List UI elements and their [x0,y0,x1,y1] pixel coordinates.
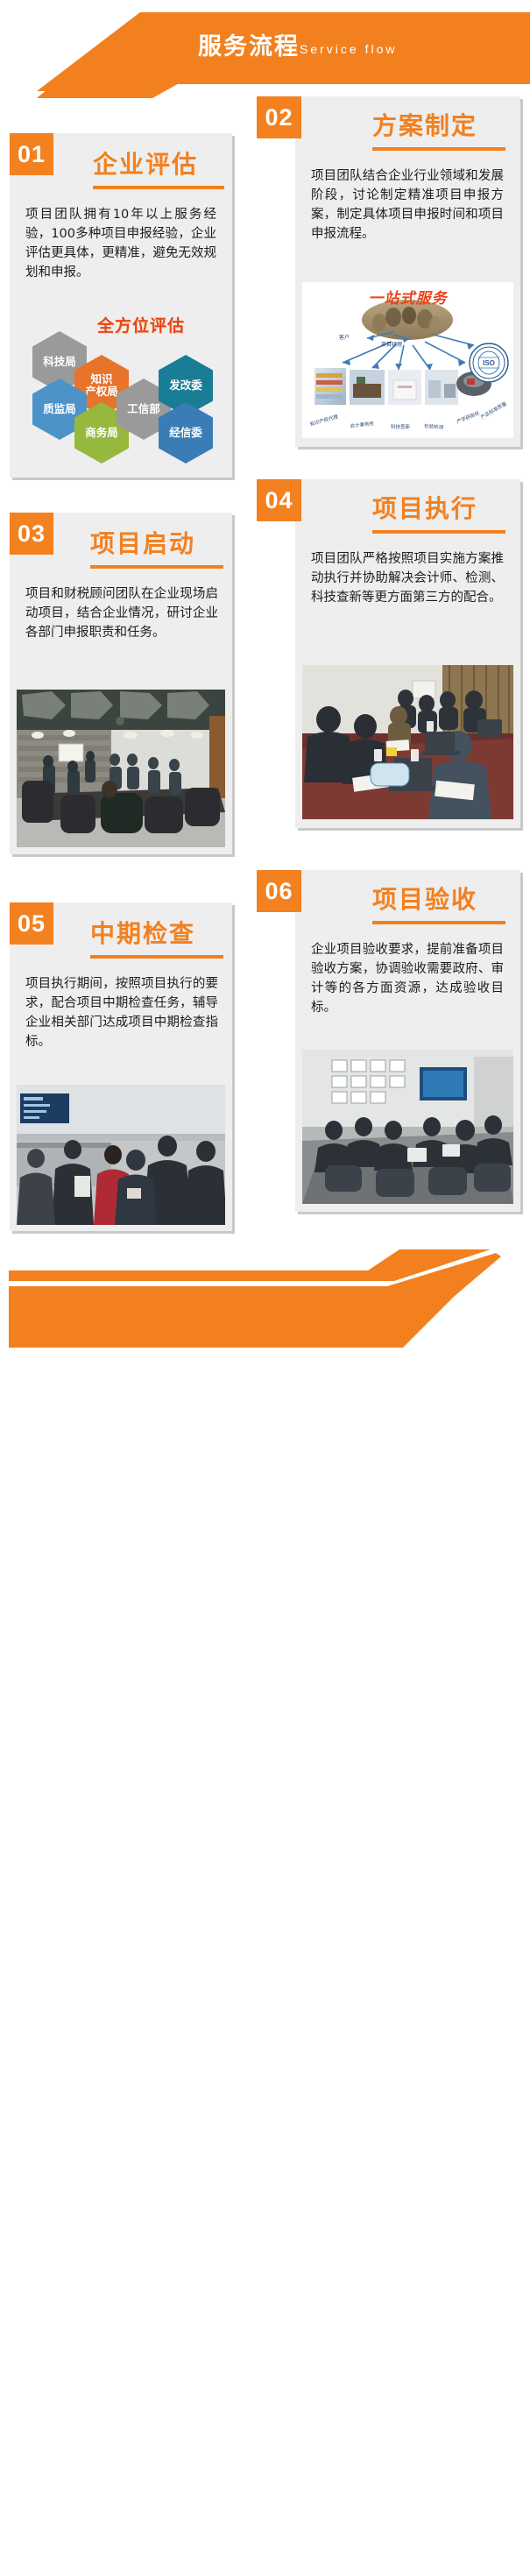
one-stop-title: 一站式服务 [369,286,448,308]
card-01[interactable]: 企业评估 项目团队拥有10年以上服务经验，100多种项目申报经验，企业评估更具体… [10,133,232,478]
one-stop-service-diagram: 一站式服务 [302,282,513,438]
card-03-title-rule [90,565,223,569]
card-02-title-rule [372,147,505,151]
one-stop-node-manager: 项目经理 [381,340,402,348]
footer-banner: 全国统一热线： 400-150-1560 [0,1249,530,1348]
card-02-title: 方案制定 [372,114,477,138]
card-05-title: 中期检查 [90,922,195,946]
card-02-body: 项目团队结合企业行业领域和发展阶段，讨论制定精准项目申报方案，制定具体项目申报时… [311,166,504,244]
header-banner: 服务流程 Service flow [0,0,530,98]
card-03-title: 项目启动 [90,532,195,556]
card-04-title-rule [372,530,505,534]
card-06-body: 企业项目验收要求，提前准备项目验收方案，协调验收需要政府、审计等的各方面资源，达… [311,940,504,1017]
hexagon-node-label: 发改委 [169,379,202,392]
hexagon-node-label: 商务局 [85,427,118,439]
one-stop-node-customer: 客户 [339,333,350,341]
card-03-body: 项目和财税顾问团队在企业现场启动项目，结合企业情况，研讨企业各部门申报职责和任务… [25,584,218,642]
card-06[interactable]: 项目验收 企业项目验收要求，提前准备项目验收方案，协调验收需要政府、审计等的各方… [295,870,520,1212]
card-02[interactable]: 方案制定 项目团队结合企业行业领域和发展阶段，讨论制定精准项目申报方案，制定具体… [295,96,520,447]
card-01-body: 项目团队拥有10年以上服务经验，100多种项目申报经验，企业评估更具体，更精准，… [25,205,216,282]
card-05-body: 项目执行期间，按照项目执行的要求，配合项目中期检查任务，辅导企业相关部门达成项目… [25,974,218,1051]
card-01-title: 企业评估 [93,152,198,177]
hexagon-node-label: 工信部 [127,403,160,415]
page-subtitle: Service flow [300,43,397,55]
hexagon-node-label: 科技局 [43,356,76,368]
card-06-title: 项目验收 [372,888,477,912]
card-04[interactable]: 项目执行 项目团队严格按照项目实施方案推动执行并协助解决会计师、检测、科技查新等… [295,479,520,828]
card-06-title-rule [372,921,505,924]
infographic-page: 服务流程 Service flow 企业评估 项目团队拥有10年以上服务经验，1… [0,0,530,1348]
hexagon-node-label: 经信委 [169,427,202,439]
meeting-laptops-photo [302,665,513,819]
card-01-title-rule [93,186,224,189]
boardroom-review-photo [302,1050,513,1204]
hexagon-node-label: 知识产权局 [85,373,118,398]
card-06-number-badge: 06 [257,870,301,912]
hexagon-assessment-diagram: 全方位评估 科技局 知识产权局 质监局 商务局 工信部 发改委 经信委 [17,315,227,469]
card-05-number-badge: 05 [10,902,53,945]
card-05-title-rule [90,955,223,959]
one-stop-label-novelty-search: 科技查新 [391,423,410,430]
card-02-number-badge: 02 [257,96,301,138]
card-01-number-badge: 01 [10,133,53,175]
card-03[interactable]: 项目启动 项目和财税顾问团队在企业现场启动项目，结合企业情况，研讨企业各部门申报… [10,513,232,854]
hexagon-diagram-title: 全方位评估 [97,318,185,335]
svg-text:ISO: ISO [483,359,495,367]
hotline-label: 全国统一热线： [49,2552,159,2574]
lobby-visit-photo [17,1085,225,1225]
one-stop-label-inspection: 检验检测 [424,422,444,431]
footer-banner-shape [0,1249,530,1348]
card-04-body: 项目团队严格按照项目实施方案推动执行并协助解决会计师、检测、科技查新等更方面第三… [311,549,504,607]
card-04-title: 项目执行 [372,497,477,521]
page-title: 服务流程 [198,35,300,59]
hotline-row: 全国统一热线： 400-150-1560 [49,2549,310,2576]
hexagon-node-label: 质监局 [43,403,76,415]
hotline-phone: 400-150-1560 [163,2549,310,2576]
conference-room-photo [17,690,225,847]
card-03-number-badge: 03 [10,513,53,555]
card-04-number-badge: 04 [257,479,301,521]
card-05[interactable]: 中期检查 项目执行期间，按照项目执行的要求，配合项目中期检查任务，辅导企业相关部… [10,902,232,1231]
